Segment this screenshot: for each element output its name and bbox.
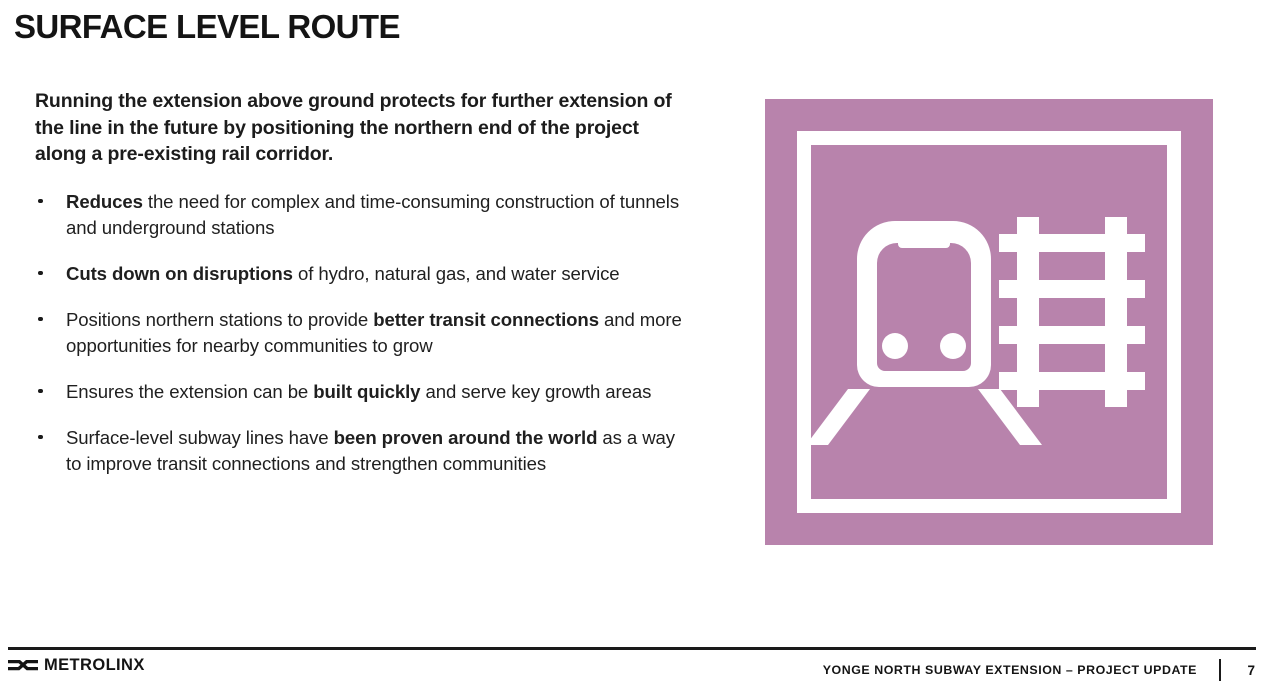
bullet-lead: Surface-level subway lines have [66, 427, 334, 448]
content-column: Running the extension above ground prote… [35, 88, 695, 477]
bullet-dot-icon [38, 199, 43, 204]
bullet-tail-bold: better transit connections [373, 309, 599, 330]
bullet-lead-bold: Cuts down on disruptions [66, 263, 293, 284]
bullet-lead-bold: Reduces [66, 191, 143, 212]
bullet-dot-icon [38, 271, 43, 276]
metrolinx-logo: METROLINX [8, 656, 145, 675]
surface-level-rail-illustration [765, 99, 1213, 545]
intro-paragraph: Running the extension above ground prote… [35, 88, 675, 168]
bullet-dot-icon [38, 317, 43, 322]
page-number: 7 [1241, 663, 1255, 678]
bullet-lead: Positions northern stations to provide [66, 309, 373, 330]
footer-right-group: YONGE NORTH SUBWAY EXTENSION – PROJECT U… [823, 659, 1255, 681]
bullet-lead: Ensures the extension can be [66, 381, 313, 402]
footer-caption: YONGE NORTH SUBWAY EXTENSION – PROJECT U… [823, 663, 1197, 677]
bullet-dot-icon [38, 389, 43, 394]
bullet-tail: and serve key growth areas [420, 381, 651, 402]
list-item: Reduces the need for complex and time-co… [35, 189, 695, 241]
bullet-tail-bold: built quickly [313, 381, 420, 402]
bullet-rest: of hydro, natural gas, and water service [293, 263, 620, 284]
bullet-tail-bold: been proven around the world [334, 427, 598, 448]
benefits-bullet-list: Reduces the need for complex and time-co… [35, 189, 695, 477]
bullet-rest: the need for complex and time-consuming … [66, 191, 679, 238]
bullet-dot-icon [38, 435, 43, 440]
list-item: Positions northern stations to provide b… [35, 307, 695, 359]
page-title: SURFACE LEVEL ROUTE [14, 8, 400, 46]
metrolinx-wordmark: METROLINX [44, 656, 145, 675]
list-item: Ensures the extension can be built quick… [35, 379, 695, 405]
list-item: Cuts down on disruptions of hydro, natur… [35, 261, 695, 287]
metrolinx-wave-mark-icon [8, 657, 38, 675]
footer-vertical-divider [1219, 659, 1221, 681]
list-item: Surface-level subway lines have been pro… [35, 425, 695, 477]
footer-divider-rule [8, 647, 1256, 650]
rail-icon [765, 99, 1213, 545]
